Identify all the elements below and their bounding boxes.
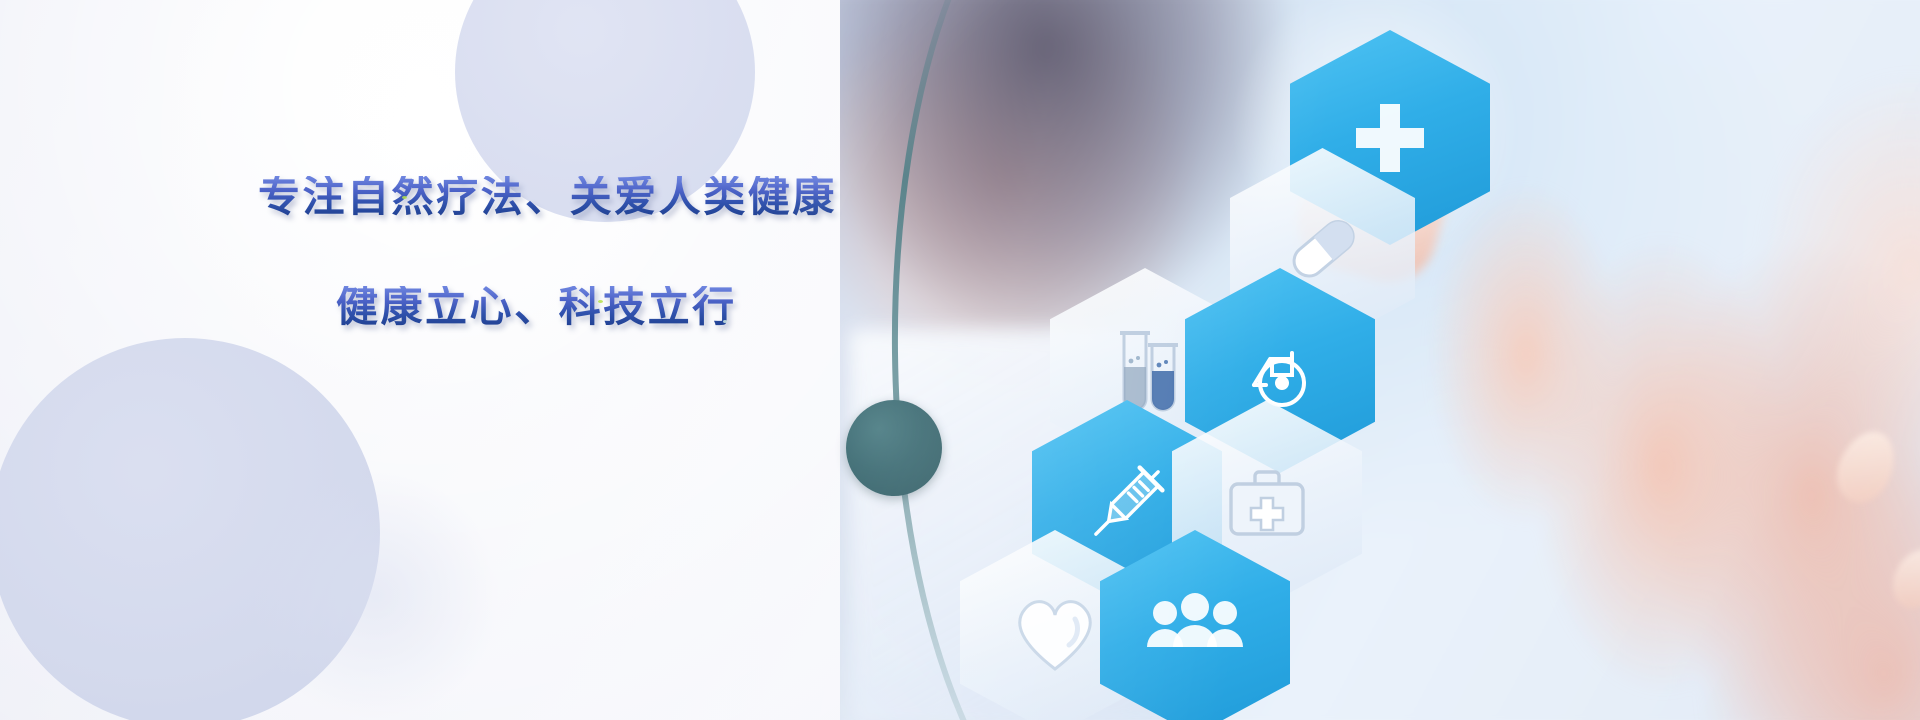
heart-icon [1007, 589, 1103, 677]
headline-block: 专注自然疗法、关爱人类健康 健康立心、科技立行 [258, 176, 898, 328]
first-aid-kit-icon [1221, 460, 1313, 546]
headline-line-primary: 专注自然疗法、关爱人类健康 [258, 176, 898, 218]
sparkle-speck-3 [723, 320, 727, 323]
sparkle-speck-2 [598, 300, 603, 303]
sparkle-speck-1 [402, 196, 407, 199]
people-group-icon [1143, 593, 1247, 673]
headline-line-secondary: 健康立心、科技立行 [336, 286, 898, 328]
test-tubes-icon [1102, 323, 1188, 419]
wheelchair-icon [1234, 325, 1326, 417]
syringe-icon [1079, 455, 1175, 551]
hero-banner: 专注自然疗法、关爱人类健康 健康立心、科技立行 [0, 0, 1920, 720]
decorative-circle-faint [250, 470, 500, 720]
hexagon-icon-cluster [900, 0, 1520, 720]
